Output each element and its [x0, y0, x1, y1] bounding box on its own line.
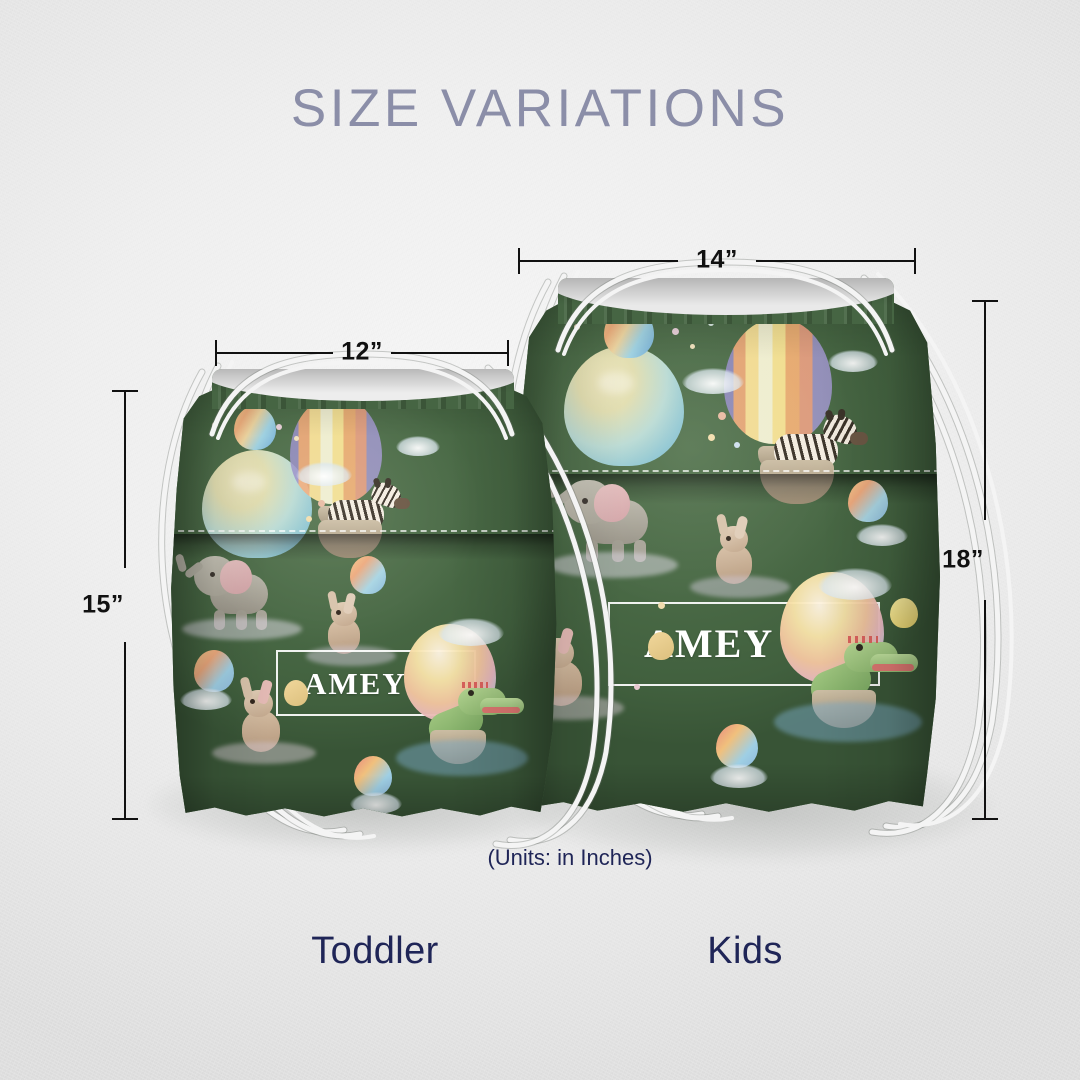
units-note: (Units: in Inches): [60, 845, 1080, 871]
art-dot: [318, 500, 325, 507]
toddler-bag-name-text: AMEY: [304, 668, 407, 699]
art-dot: [306, 516, 312, 522]
page-title: SIZE VARIATIONS: [0, 78, 1080, 139]
art-balloon-rainbow: [848, 480, 888, 522]
toddler-width-dimension: 12”: [215, 339, 509, 367]
art-cloud: [828, 350, 878, 372]
art-splash: [182, 618, 302, 640]
art-dot: [734, 442, 740, 448]
art-dot: [690, 344, 695, 349]
art-balloon-large-pastel: [564, 346, 684, 466]
kids-bag-stitch-line: [512, 470, 940, 472]
art-water-splash: [774, 702, 922, 742]
toddler-width-label: 12”: [332, 337, 392, 366]
caption-kids: Kids: [600, 930, 890, 973]
art-cloud: [350, 792, 402, 814]
kids-width-dimension: 14”: [518, 247, 916, 275]
size-chart-canvas: SIZE VARIATIONS: [0, 0, 1080, 1080]
art-cloud: [180, 688, 232, 710]
art-balloon-yellow: [890, 598, 918, 628]
art-cloud: [396, 436, 440, 456]
art-splash: [548, 552, 678, 578]
art-dot: [672, 328, 679, 335]
art-dot: [708, 434, 715, 441]
kids-width-label: 14”: [687, 245, 747, 274]
kids-height-dimension: 18”: [971, 300, 999, 820]
toddler-bag[interactable]: AMEY: [168, 374, 558, 820]
toddler-height-dimension: 15”: [111, 390, 139, 820]
art-dot: [658, 602, 665, 609]
kids-bag-gathered-top: [558, 278, 894, 324]
art-cloud: [438, 618, 504, 646]
art-balloon-rainbow: [194, 650, 234, 692]
art-cloud: [296, 462, 352, 486]
art-cloud: [818, 568, 892, 600]
art-balloon-rainbow-small: [234, 406, 276, 450]
art-water-splash: [396, 740, 528, 776]
caption-toddler: Toddler: [230, 930, 520, 973]
art-splash: [690, 576, 790, 598]
art-dot: [212, 422, 218, 428]
art-cloud: [856, 524, 908, 546]
art-splash: [212, 742, 316, 764]
art-cloud: [682, 368, 744, 394]
art-balloon-small: [648, 632, 674, 660]
kids-bag[interactable]: AMEY: [512, 284, 940, 816]
toddler-bag-gathered-top: [212, 369, 514, 409]
toddler-height-label: 15”: [82, 591, 124, 620]
art-dot: [276, 424, 282, 430]
art-highlight: [598, 372, 634, 394]
art-cloud: [710, 764, 768, 788]
art-dot: [718, 412, 726, 420]
art-dot: [634, 684, 640, 690]
kids-height-label: 18”: [942, 546, 984, 575]
toddler-bag-body: AMEY: [168, 374, 558, 820]
art-balloon-small: [284, 680, 308, 706]
toddler-bag-stitch-line: [168, 530, 558, 532]
art-balloon-rainbow: [716, 724, 758, 768]
art-highlight: [232, 472, 266, 492]
kids-bag-body: AMEY: [512, 284, 940, 816]
art-dot: [574, 324, 580, 330]
art-balloon-rainbow: [354, 756, 392, 796]
art-hot-air-balloon-striped: [290, 396, 382, 504]
art-dot: [294, 436, 299, 441]
art-balloon-rainbow: [350, 556, 386, 594]
